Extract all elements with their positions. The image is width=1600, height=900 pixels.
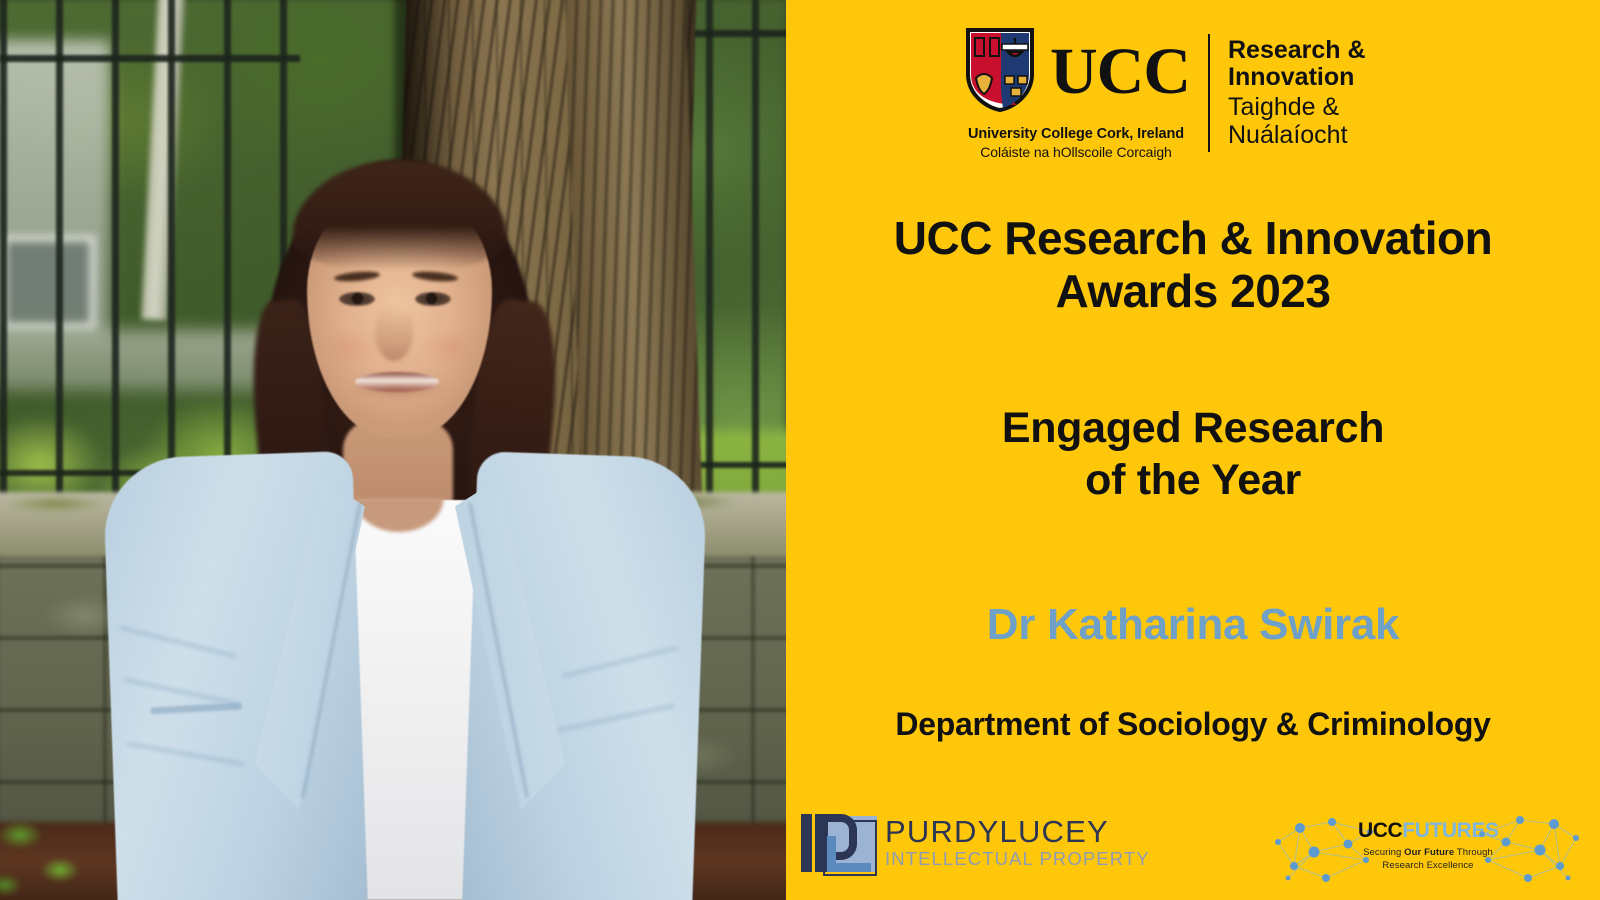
network-graphic-right-icon <box>1476 808 1584 888</box>
chin-shadow <box>350 386 445 400</box>
award-category-line1: Engaged Research <box>800 402 1586 454</box>
award-category-line2: of the Year <box>800 454 1586 506</box>
pupil-right <box>426 293 437 304</box>
ucc-name-english: University College Cork, Ireland <box>968 126 1184 142</box>
unit-name-ga-line2: Nuálaíocht <box>1228 122 1366 150</box>
ucc-wordmark: UCC <box>1050 45 1190 99</box>
ucc-crest-icon <box>962 26 1038 119</box>
nose <box>375 305 413 361</box>
awards-title-line1: UCC Research & Innovation <box>800 212 1586 265</box>
content-panel: UCC University College Cork, Ireland Col… <box>786 0 1600 900</box>
awards-title: UCC Research & Innovation Awards 2023 <box>800 212 1586 319</box>
unit-name-en-line2: Innovation <box>1228 64 1366 91</box>
logo-divider <box>1208 34 1210 152</box>
ucc-logo: UCC University College Cork, Ireland Col… <box>962 26 1190 160</box>
recipient-name: Dr Katharina Swirak <box>800 600 1586 650</box>
cheek-right <box>424 330 478 364</box>
awards-announcement-slide: UCC University College Cork, Ireland Col… <box>0 0 1600 900</box>
unit-name-ga-line1: Taighde & <box>1228 94 1366 122</box>
purdylucey-tagline: INTELLECTUAL PROPERTY <box>885 850 1150 869</box>
cheek-left <box>322 330 376 364</box>
ucc-futures-tagline-pre: Securing <box>1363 847 1404 858</box>
person-figure <box>0 0 786 900</box>
hair-fringe <box>292 160 507 270</box>
unit-name-en-line1: Research & <box>1228 37 1366 64</box>
recipient-photo <box>0 0 786 900</box>
award-category: Engaged Research of the Year <box>800 402 1586 507</box>
purdylucey-monogram-icon <box>801 810 873 874</box>
recipient-department: Department of Sociology & Criminology <box>800 706 1586 743</box>
ucc-futures-name-part1: UCC <box>1358 819 1402 842</box>
ucc-futures-tagline-bold: Our Future <box>1404 847 1454 858</box>
ucc-research-innovation-logo: UCC University College Cork, Ireland Col… <box>962 26 1366 160</box>
research-innovation-unit-name: Research & Innovation Taighde & Nuálaíoc… <box>1228 37 1366 149</box>
awards-title-line2: Awards 2023 <box>800 265 1586 318</box>
purdylucey-name: PURDYLUCEY <box>885 816 1150 847</box>
ucc-futures-logo: UCCFUTURES Securing Our Future Through R… <box>1270 808 1584 888</box>
ucc-name-irish: Coláiste na hOllscoile Corcaigh <box>980 144 1171 160</box>
pupil-left <box>352 293 363 304</box>
purdylucey-logo: PURDYLUCEY INTELLECTUAL PROPERTY <box>801 810 1150 874</box>
